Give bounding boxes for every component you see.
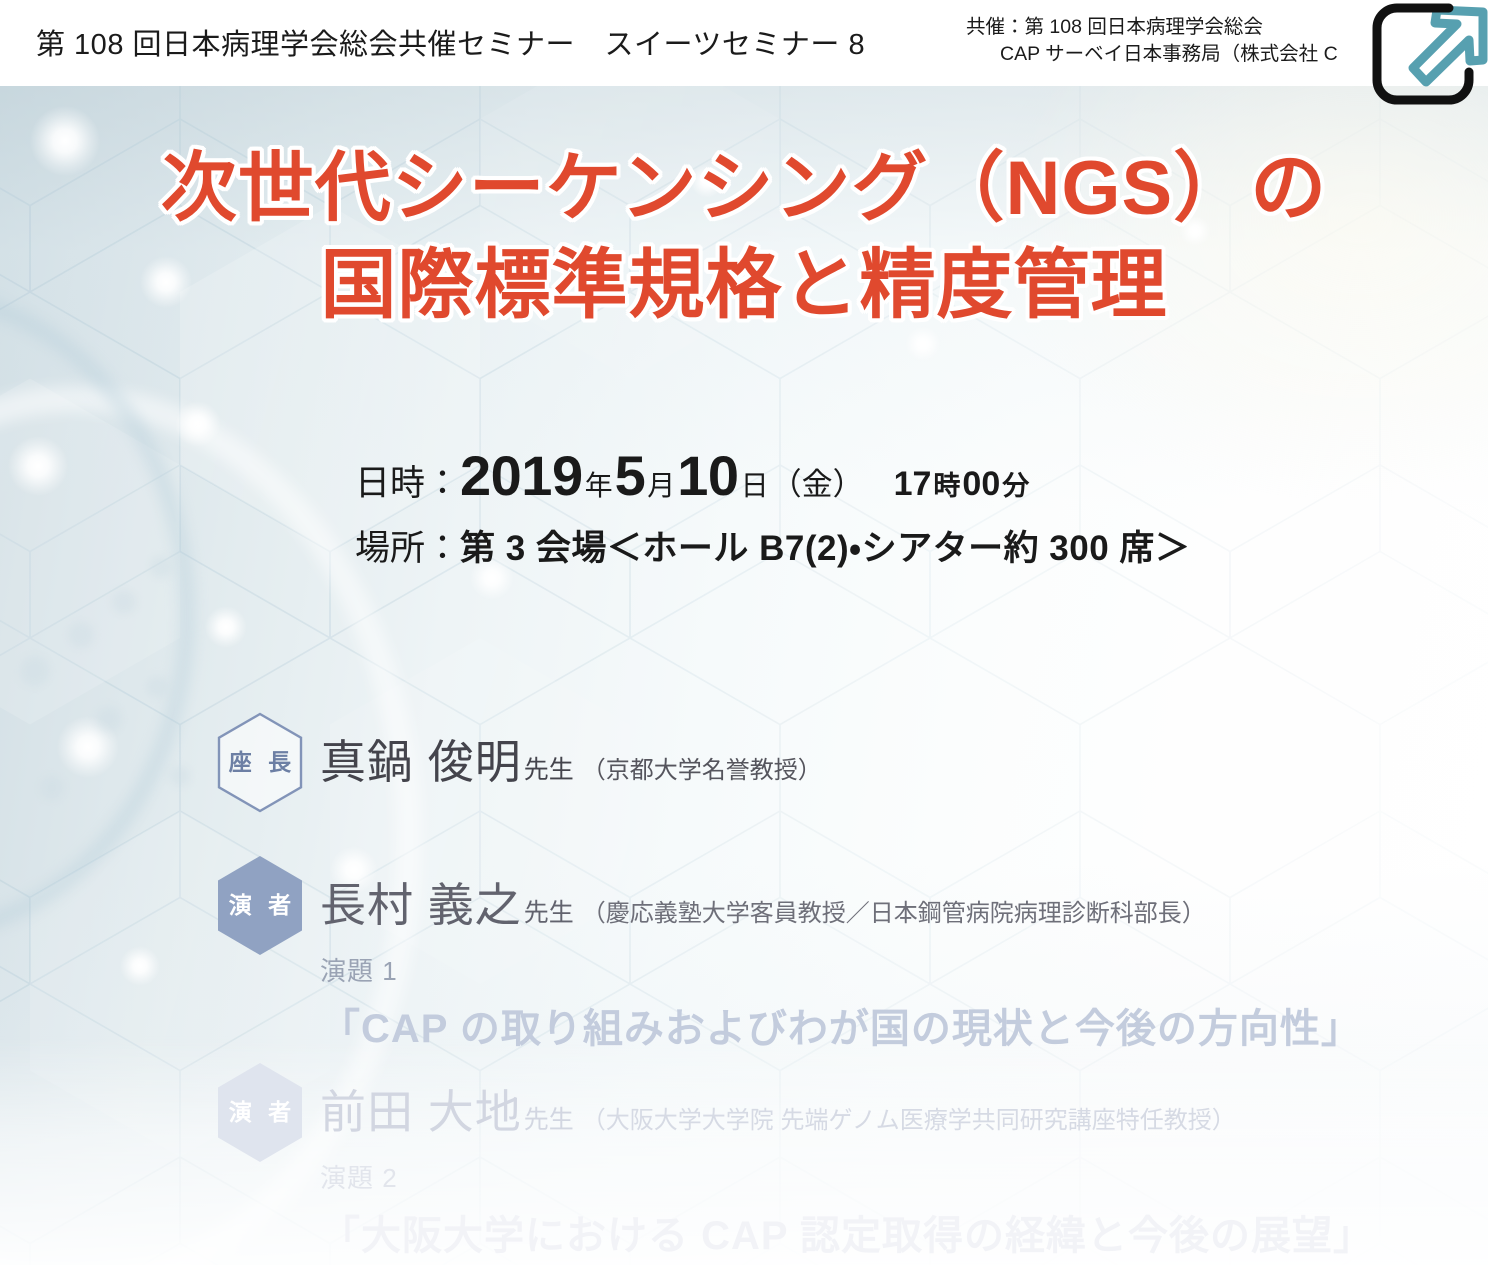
- page-title: 次世代シーケンシング（NGS）の 国際標準規格と精度管理: [0, 143, 1488, 332]
- event-day: 10: [677, 444, 738, 507]
- speaker-2-talk-title: 「大阪大学における CAP 認定取得の経緯と今後の展望」: [320, 1203, 1374, 1261]
- event-year: 2019: [460, 444, 583, 507]
- speaker-1-badge-label: 演 者: [224, 894, 296, 917]
- speaker-2-badge: 演 者: [216, 1062, 304, 1163]
- event-hour: 17: [894, 465, 932, 503]
- venue-label: 場所：: [355, 529, 460, 568]
- hour-unit: 時: [931, 471, 962, 501]
- speaker-1-honorific: 先生: [522, 899, 574, 927]
- month-unit: 月: [645, 470, 677, 501]
- speaker-1-info: 長村 義之先生（慶応義塾大学客員教授／日本鋼管病院病理診断科部長） 演題 1 「…: [320, 869, 1362, 1054]
- cosponsor-block: 共催：第 108 回日本病理学会総会 CAP サーベイ日本事務局（株式会社 C: [966, 14, 1338, 68]
- speaker-1-name: 長村 義之: [320, 879, 522, 931]
- chairperson-badge: 座 長: [216, 712, 304, 813]
- minute-unit: 分: [1000, 471, 1031, 501]
- speaker-2-info: 前田 大地先生（大阪大学大学院 先端ゲノム医療学共同研究講座特任教授） 演題 2…: [320, 1076, 1374, 1261]
- seminar-header-title: 第 108 回日本病理学会総会共催セミナー スイーツセミナー 8: [36, 21, 865, 63]
- chairperson-affiliation: （京都大学名誉教授）: [574, 757, 822, 784]
- year-unit: 年: [583, 470, 615, 501]
- cosponsor-line-1: 共催：第 108 回日本病理学会総会: [966, 14, 1338, 41]
- event-month: 5: [615, 444, 646, 507]
- speaker-1-affiliation: （慶応義塾大学客員教授／日本鋼管病院病理診断科部長）: [574, 900, 1206, 927]
- speaker-2-badge-label: 演 者: [224, 1101, 296, 1124]
- title-line-2: 国際標準規格と精度管理: [0, 240, 1488, 333]
- header-bar: 第 108 回日本病理学会総会共催セミナー スイーツセミナー 8 共催：第 10…: [0, 0, 1488, 86]
- title-line-1: 次世代シーケンシング（NGS）の: [0, 143, 1488, 236]
- venue-text: 第 3 会場＜ホール B7(2)・シアター約 300 席＞: [460, 529, 1190, 568]
- speaker-1-talk-number: 演題 1: [320, 951, 1362, 988]
- arrow-in-rounded-square-logo: [1371, 2, 1488, 108]
- cosponsor-line-2: CAP サーベイ日本事務局（株式会社 C: [966, 41, 1338, 68]
- speaker-1-badge: 演 者: [216, 855, 304, 956]
- speaker-2-honorific: 先生: [522, 1106, 574, 1134]
- chairperson-name: 真鍋 俊明: [320, 736, 522, 788]
- datetime-label: 日時：: [355, 464, 460, 503]
- event-venue: 場所：第 3 会場＜ホール B7(2)・シアター約 300 席＞: [355, 520, 1190, 571]
- chairperson-honorific: 先生: [522, 756, 574, 784]
- chairperson-info: 真鍋 俊明先生（京都大学名誉教授）: [320, 726, 822, 792]
- event-minute: 00: [962, 465, 1000, 503]
- flyer-content: 次世代シーケンシング（NGS）の 国際標準規格と精度管理 日時：2019年5月1…: [0, 0, 1488, 1265]
- speaker-2-affiliation: （大阪大学大学院 先端ゲノム医療学共同研究講座特任教授）: [574, 1107, 1236, 1134]
- chairperson-badge-label: 座 長: [224, 751, 296, 774]
- day-unit: 日: [739, 470, 771, 501]
- speaker-2-talk-number: 演題 2: [320, 1158, 1374, 1195]
- event-datetime: 日時：2019年5月10日（金）17時00分: [355, 443, 1031, 508]
- speaker-2-name: 前田 大地: [320, 1086, 522, 1138]
- speaker-1-talk-title: 「CAP の取り組みおよびわが国の現状と今後の方向性」: [320, 996, 1362, 1054]
- event-weekday: （金）: [771, 467, 864, 502]
- seminar-flyer: 次世代シーケンシング（NGS）の 国際標準規格と精度管理 日時：2019年5月1…: [0, 0, 1488, 1265]
